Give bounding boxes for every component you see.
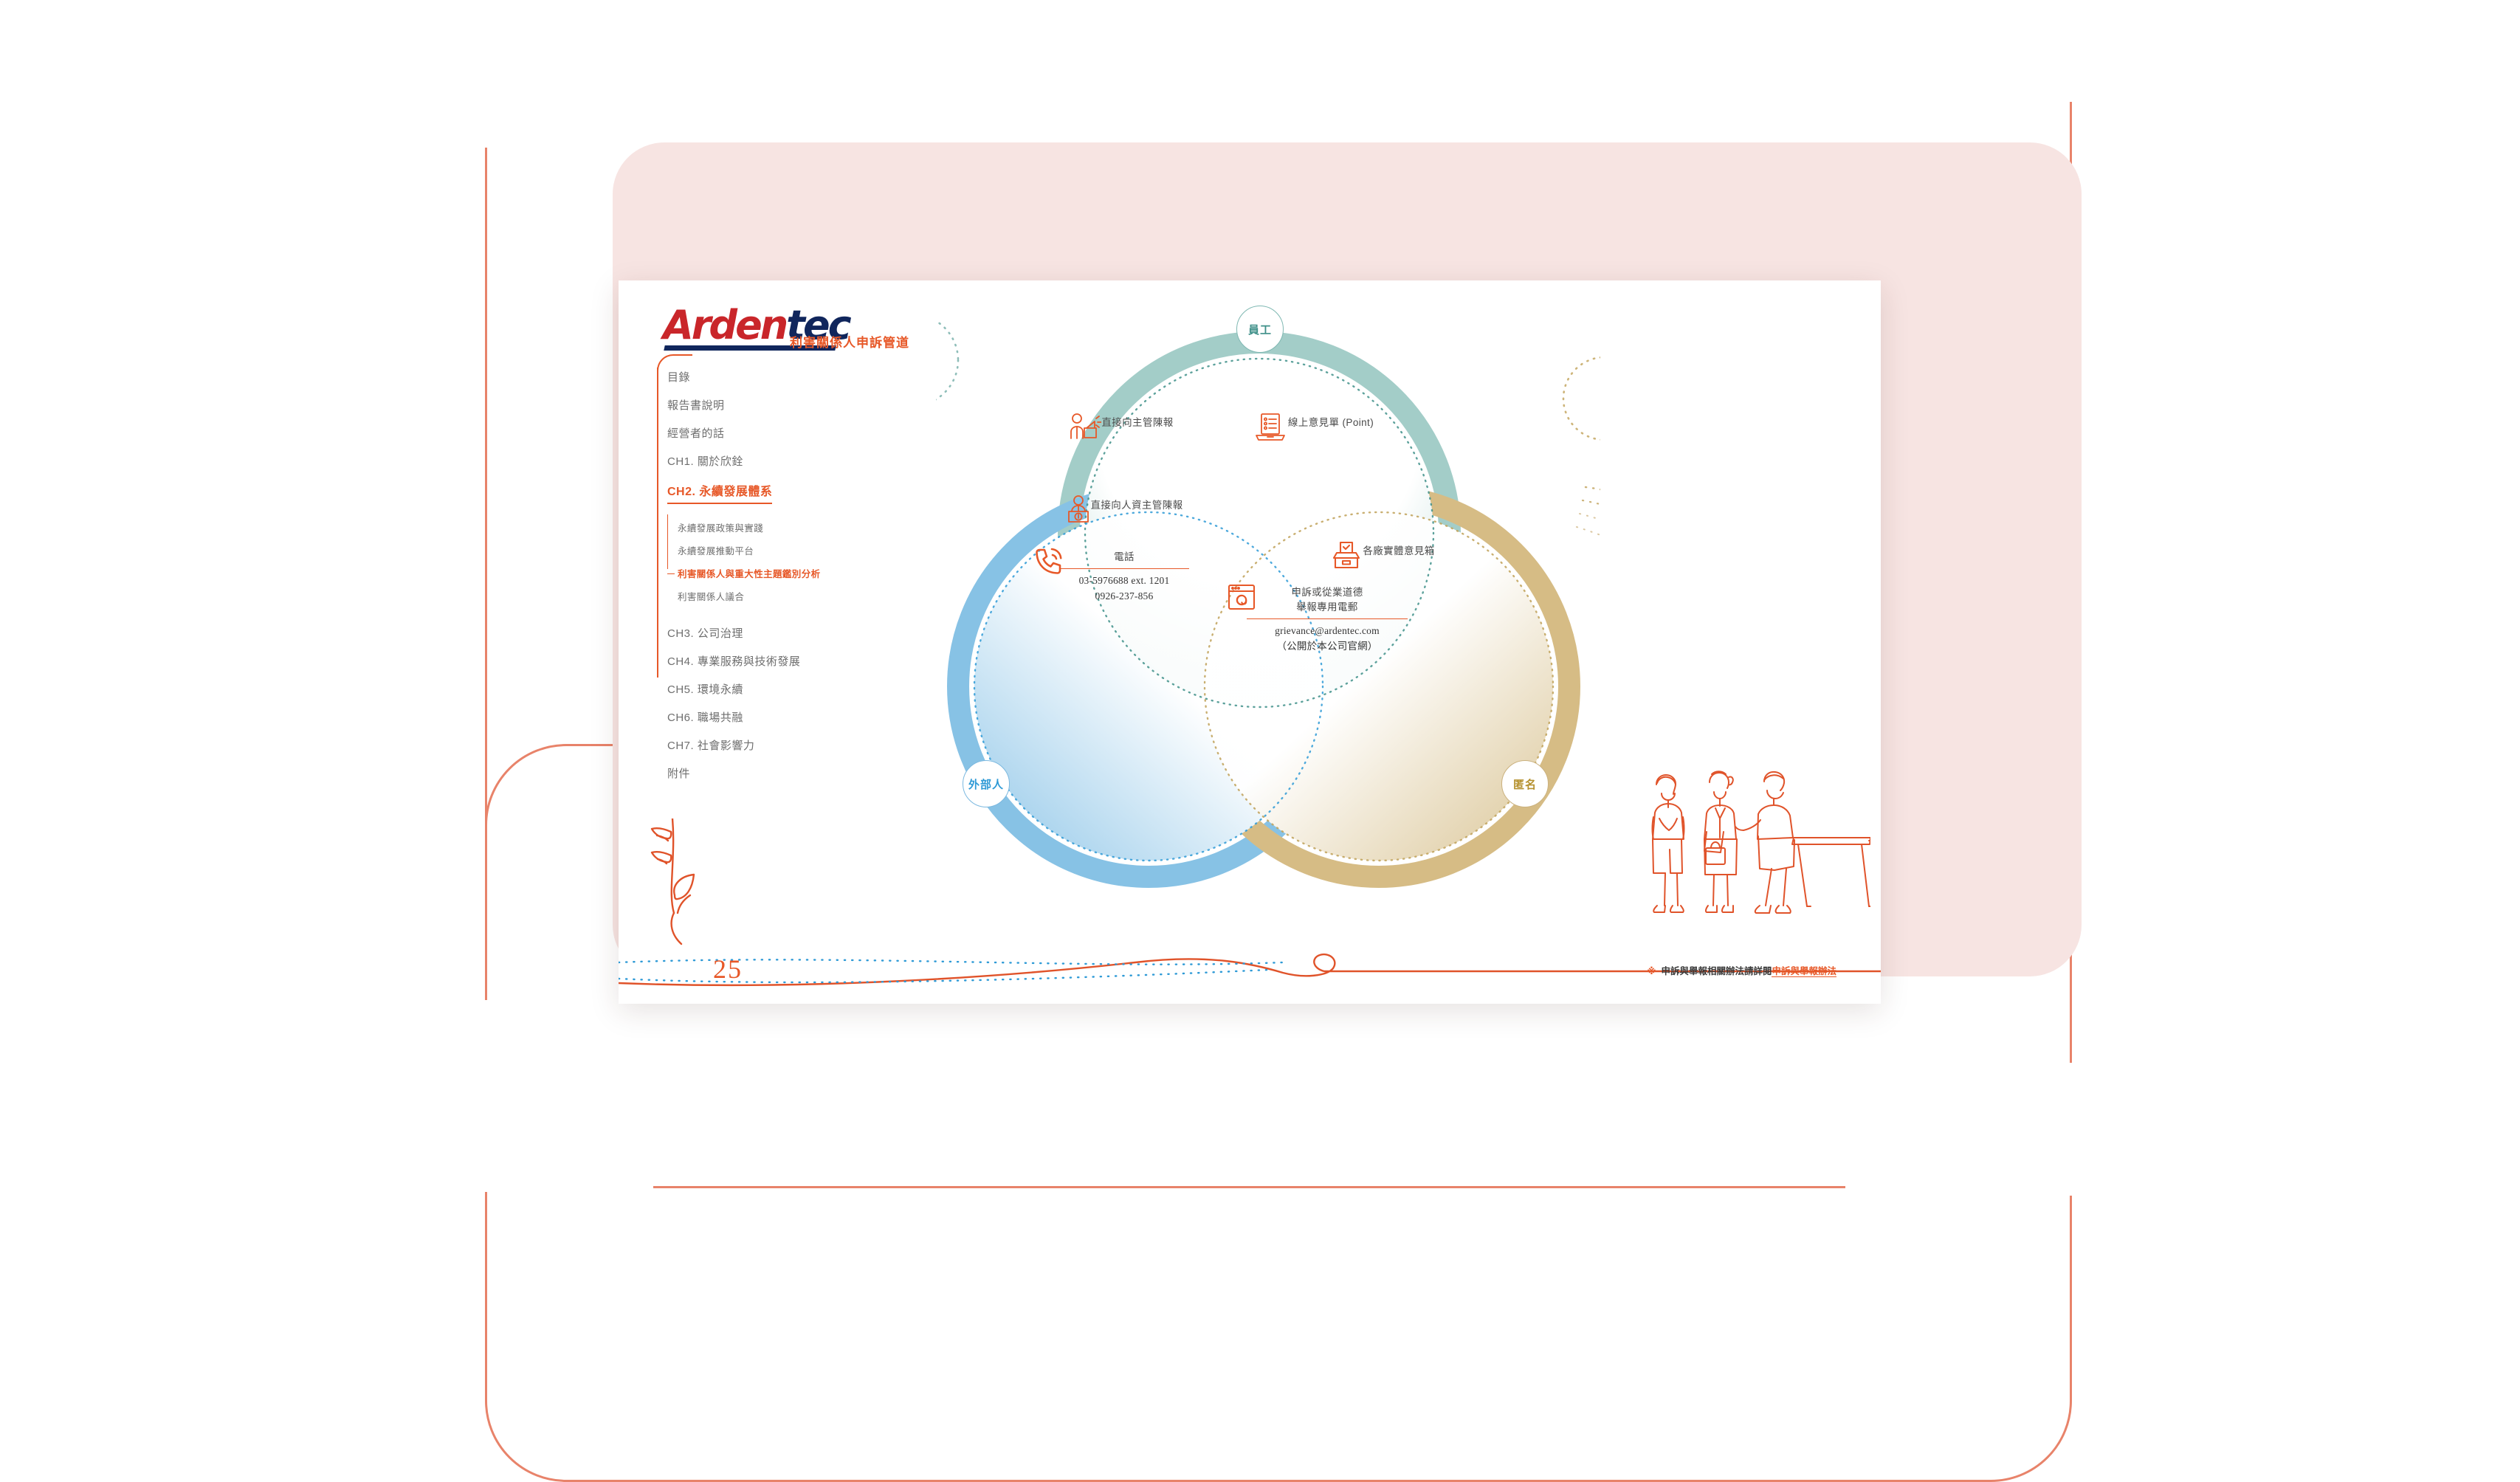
vine-decoration <box>638 818 726 962</box>
channel-email: 申訴或從業道德 舉報專用電郵 grievance@ardentec.com （公… <box>1224 582 1431 654</box>
sidebar-sublist-ch2: 永續發展政策與實踐 永續發展推動平台 利害關係人與重大性主題鑑別分析 利害關係人… <box>667 520 867 603</box>
channel-hr-report: 直接向人資主管陳報 <box>1063 494 1211 511</box>
page-title: 利害關係人申訴管道 <box>790 332 909 351</box>
sidebar-item-toc[interactable]: 目錄 <box>667 369 867 385</box>
frame-mask <box>1845 1063 2082 1196</box>
venn-label-external: 外部人 <box>963 760 1010 807</box>
channel-value: grievance@ardentec.com <box>1224 624 1431 638</box>
sidebar-item-appendix[interactable]: 附件 <box>667 765 867 781</box>
sidebar-nav: 目錄 報告書說明 經營者的話 CH1. 關於欣銓 CH2. 永續發展體系 永續發… <box>667 369 867 793</box>
sidebar-item-ch6[interactable]: CH6. 職場共融 <box>667 709 867 725</box>
sidebar-item-ch2[interactable]: CH2. 永續發展體系 <box>667 481 772 504</box>
channel-suggestion-box: 各廠實體意見箱 <box>1329 540 1469 557</box>
venn-label-anonymous: 匿名 <box>1501 760 1549 807</box>
people-illustration <box>1627 758 1870 946</box>
decorative-dots-gold <box>1563 357 1600 638</box>
channel-online-form: 線上意見單 (Point) <box>1253 412 1408 429</box>
footer-note-text: 申訴與舉報相關辦法請詳閱 <box>1661 966 1772 976</box>
sidebar-item-about-report[interactable]: 報告書說明 <box>667 397 867 413</box>
sidebar-item-ch7[interactable]: CH7. 社會影響力 <box>667 737 867 753</box>
frame-mask <box>483 1000 653 1192</box>
page-number: 25 <box>713 954 743 985</box>
sidebar-spacer <box>667 612 867 625</box>
report-slide: Ardentec 利害關係人申訴管道 目錄 報告書說明 經營者的話 CH1. 關… <box>619 280 1881 1004</box>
frame-mask <box>1698 0 2082 102</box>
sidebar-subitem-policy[interactable]: 永續發展政策與實踐 <box>678 520 867 534</box>
asterisk-icon: ※ <box>1647 966 1656 976</box>
sidebar-item-ceo-message[interactable]: 經營者的話 <box>667 425 867 441</box>
sidebar-rail <box>657 368 658 678</box>
divider <box>1060 568 1189 569</box>
sidebar-item-ch5[interactable]: CH5. 環境永續 <box>667 681 867 697</box>
footer-note: ※申訴與舉報相關辦法請詳閱申訴與舉報辦法 <box>1647 963 1836 977</box>
channel-phone: 電話 03-5976688 ext. 1201 0926-237-856 <box>1032 546 1216 604</box>
frame-mask <box>483 0 631 148</box>
logo-text-red: Arden <box>663 302 786 348</box>
sidebar-subitem-materiality[interactable]: 利害關係人與重大性主題鑑別分析 <box>678 566 867 580</box>
footer-note-link[interactable]: 申訴與舉報辦法 <box>1772 966 1836 977</box>
sidebar-item-ch4[interactable]: CH4. 專業服務與技術發展 <box>667 653 867 669</box>
divider <box>1247 618 1408 619</box>
sidebar-subitem-platform[interactable]: 永續發展推動平台 <box>678 543 867 557</box>
channel-note: 0926-237-856 <box>1032 589 1216 604</box>
sidebar-item-ch1[interactable]: CH1. 關於欣銓 <box>667 453 867 469</box>
channel-supervisor-report: 直接向主管陳報 <box>1067 412 1208 429</box>
venn-label-employee: 員工 <box>1236 306 1284 353</box>
sidebar-subitem-engagement[interactable]: 利害關係人議合 <box>678 589 867 603</box>
channel-note: （公開於本公司官網） <box>1224 639 1431 654</box>
decorative-dots-teal <box>936 303 958 604</box>
grievance-channel-venn-diagram: 員工 外部人 匿名 直接向主管陳報 <box>936 303 1600 908</box>
sidebar-item-ch3[interactable]: CH3. 公司治理 <box>667 625 867 641</box>
